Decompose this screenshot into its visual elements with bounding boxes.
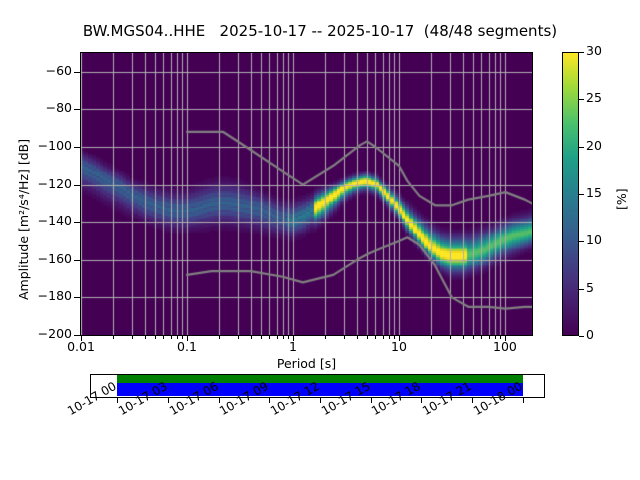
x-tick-mark-minor <box>283 336 284 339</box>
y-tick-label: −180 <box>16 288 72 303</box>
y-tick-label: −120 <box>16 176 72 191</box>
colorbar-tick-label: 30 <box>586 43 602 58</box>
y-tick-label: −80 <box>16 100 72 115</box>
x-tick-label: 1 <box>263 339 323 354</box>
timeline-tick-mark <box>421 398 422 403</box>
timeline-tick-mark <box>320 398 321 403</box>
timeline-tick-mark <box>168 398 169 403</box>
y-tick-mark <box>74 260 80 261</box>
x-tick-mark-minor <box>383 336 384 339</box>
x-tick-mark-major <box>81 336 82 341</box>
x-tick-mark-minor <box>325 336 326 339</box>
x-tick-mark-minor <box>495 336 496 339</box>
colorbar-tick-mark <box>579 241 584 242</box>
x-tick-mark-minor <box>389 336 390 339</box>
x-tick-mark-minor <box>431 336 432 339</box>
y-tick-label: −160 <box>16 251 72 266</box>
colorbar-tick-mark <box>579 52 584 53</box>
y-tick-mark <box>74 185 80 186</box>
ppsd-plot-area <box>80 52 533 336</box>
x-tick-mark-minor <box>171 336 172 339</box>
colorbar-tick-mark <box>579 194 584 195</box>
x-tick-mark-minor <box>182 336 183 339</box>
figure-title: BW.MGS04..HHE 2025-10-17 -- 2025-10-17 (… <box>0 22 640 40</box>
x-tick-mark-minor <box>344 336 345 339</box>
x-tick-label: 100 <box>475 339 535 354</box>
x-tick-mark-major <box>293 336 294 341</box>
timeline-tick-mark <box>269 398 270 403</box>
x-tick-mark-minor <box>450 336 451 339</box>
y-tick-label: −100 <box>16 138 72 153</box>
noise-model-overlay-canvas <box>81 53 532 335</box>
x-tick-mark-minor <box>277 336 278 339</box>
y-tick-label: −140 <box>16 213 72 228</box>
colorbar-tick-label: 15 <box>586 185 602 200</box>
colorbar-label: [%] <box>614 188 629 210</box>
timeline-tick-mark <box>472 398 473 403</box>
x-tick-mark-minor <box>269 336 270 339</box>
x-tick-mark-minor <box>219 336 220 339</box>
x-tick-mark-minor <box>481 336 482 339</box>
x-tick-mark-minor <box>489 336 490 339</box>
x-tick-mark-major <box>187 336 188 341</box>
x-tick-mark-minor <box>463 336 464 339</box>
colorbar-tick-mark <box>579 147 584 148</box>
colorbar-tick-label: 0 <box>586 327 594 342</box>
timeline-tick-mark <box>117 398 118 403</box>
x-tick-label: 0.1 <box>157 339 217 354</box>
timeline-tick-mark <box>219 398 220 403</box>
ppsd-figure: BW.MGS04..HHE 2025-10-17 -- 2025-10-17 (… <box>0 0 640 480</box>
y-tick-mark <box>74 297 80 298</box>
x-tick-mark-minor <box>367 336 368 339</box>
x-tick-mark-minor <box>288 336 289 339</box>
x-axis-label: Period [s] <box>80 356 533 371</box>
colorbar <box>562 52 579 336</box>
x-tick-mark-minor <box>113 336 114 339</box>
x-tick-mark-minor <box>394 336 395 339</box>
x-tick-mark-minor <box>251 336 252 339</box>
y-tick-label: −60 <box>16 63 72 78</box>
x-tick-mark-minor <box>145 336 146 339</box>
x-tick-mark-minor <box>375 336 376 339</box>
x-tick-mark-minor <box>177 336 178 339</box>
y-tick-mark <box>74 147 80 148</box>
x-tick-mark-major <box>505 336 506 341</box>
timeline-tick-mark <box>523 398 524 403</box>
x-tick-mark-minor <box>261 336 262 339</box>
colorbar-tick-label: 10 <box>586 232 602 247</box>
colorbar-tick-label: 20 <box>586 138 602 153</box>
timeline-tick-mark <box>371 398 372 403</box>
x-tick-mark-minor <box>500 336 501 339</box>
colorbar-tick-mark <box>579 289 584 290</box>
y-tick-mark <box>74 109 80 110</box>
x-tick-mark-minor <box>357 336 358 339</box>
colorbar-tick-label: 25 <box>586 90 602 105</box>
x-tick-mark-major <box>399 336 400 341</box>
x-tick-label: 0.01 <box>51 339 111 354</box>
x-tick-mark-minor <box>163 336 164 339</box>
x-tick-mark-minor <box>132 336 133 339</box>
colorbar-tick-mark <box>579 99 584 100</box>
y-tick-mark <box>74 222 80 223</box>
colorbar-tick-mark <box>579 336 584 337</box>
colorbar-tick-label: 5 <box>586 280 594 295</box>
y-tick-mark <box>74 72 80 73</box>
x-tick-mark-minor <box>155 336 156 339</box>
x-tick-label: 10 <box>369 339 429 354</box>
x-tick-mark-minor <box>238 336 239 339</box>
y-tick-mark <box>74 335 80 336</box>
x-tick-mark-minor <box>473 336 474 339</box>
